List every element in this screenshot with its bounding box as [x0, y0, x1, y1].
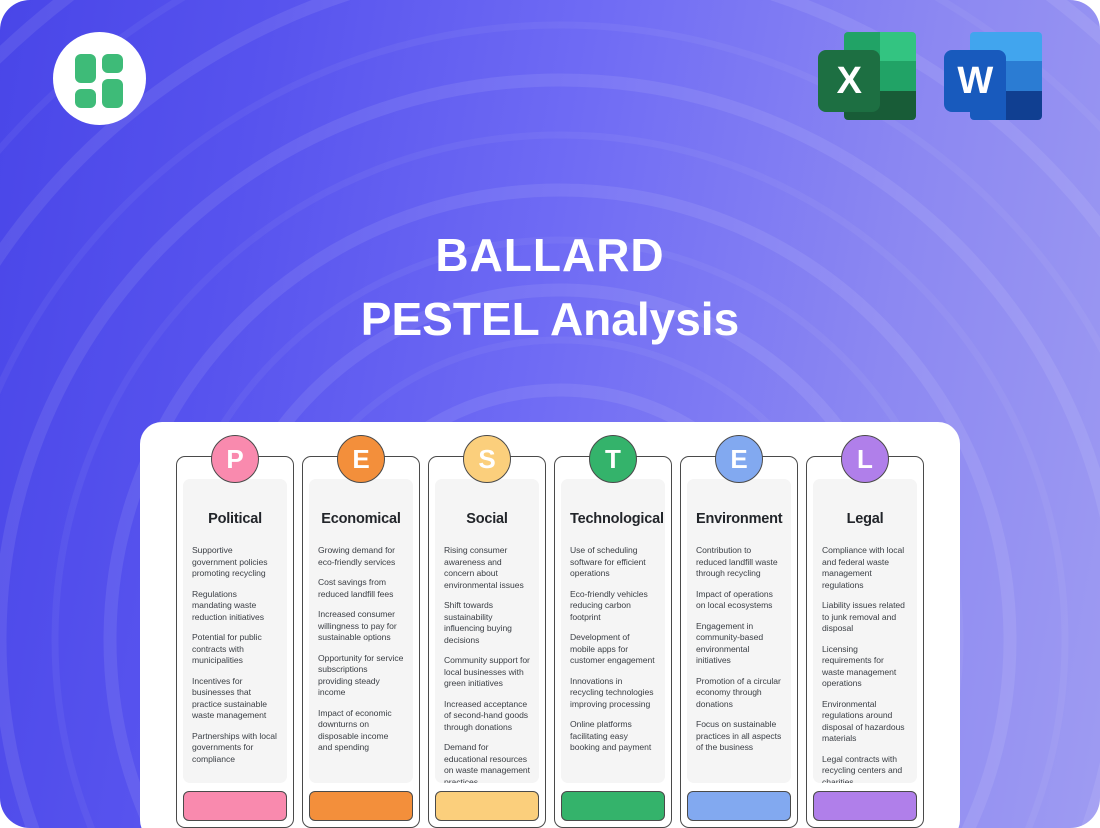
pestel-point: Licensing requirements for waste managem… — [822, 644, 908, 690]
pestel-point: Compliance with local and federal waste … — [822, 545, 908, 591]
pestel-point: Shift towards sustainability influencing… — [444, 600, 530, 646]
pestel-point: Engagement in community-based environmen… — [696, 621, 782, 667]
pestel-point: Cost savings from reduced landfill fees — [318, 577, 404, 600]
pestel-badge-political: P — [211, 435, 259, 483]
pestel-badge-legal: L — [841, 435, 889, 483]
pestel-point: Eco-friendly vehicles reducing carbon fo… — [570, 589, 656, 624]
pestel-point: Potential for public contracts with muni… — [192, 632, 278, 667]
pestel-color-bar — [183, 791, 287, 821]
pestel-point: Use of scheduling software for efficient… — [570, 545, 656, 580]
page-title: BALLARD PESTEL Analysis — [0, 225, 1100, 353]
pestel-point: Promotion of a circular economy through … — [696, 676, 782, 711]
pestel-point: Increased acceptance of second-hand good… — [444, 699, 530, 734]
pestel-point: Partnerships with local governments for … — [192, 731, 278, 766]
pestel-panel: TechnologicalUse of scheduling software … — [561, 479, 665, 783]
pestel-color-bar — [309, 791, 413, 821]
pestel-point: Liability issues related to junk removal… — [822, 600, 908, 635]
pestel-panel: SocialRising consumer awareness and conc… — [435, 479, 539, 783]
pestel-color-bar — [687, 791, 791, 821]
pestel-point: Development of mobile apps for customer … — [570, 632, 656, 667]
title-subject: PESTEL Analysis — [0, 285, 1100, 353]
pestel-column-social[interactable]: SSocialRising consumer awareness and con… — [428, 456, 546, 828]
excel-icon[interactable]: X — [818, 32, 916, 120]
pestel-point: Online platforms facilitating easy booki… — [570, 719, 656, 754]
pestel-point: Impact of operations on local ecosystems — [696, 589, 782, 612]
pestel-color-bar — [561, 791, 665, 821]
pestel-point-list: Supportive government policies promoting… — [192, 545, 278, 765]
pestel-point: Innovations in recycling technologies im… — [570, 676, 656, 711]
pestel-point: Demand for educational resources on wast… — [444, 742, 530, 783]
pestel-column-political[interactable]: PPoliticalSupportive government policies… — [176, 456, 294, 828]
title-company: BALLARD — [0, 225, 1100, 285]
pestel-column-title: Political — [192, 511, 278, 527]
logo-tile-1 — [75, 54, 96, 83]
pestel-point: Focus on sustainable practices in all as… — [696, 719, 782, 754]
pestel-column-legal[interactable]: LLegalCompliance with local and federal … — [806, 456, 924, 828]
pestel-point-list: Use of scheduling software for efficient… — [570, 545, 656, 754]
pestel-column-title: Legal — [822, 511, 908, 527]
pestel-panel: EconomicalGrowing demand for eco-friendl… — [309, 479, 413, 783]
logo-tile-3 — [75, 89, 96, 108]
pestel-point-list: Growing demand for eco-friendly services… — [318, 545, 404, 754]
excel-letter-badge: X — [818, 50, 880, 112]
pestel-color-bar — [435, 791, 539, 821]
pestel-panel: EnvironmentContribution to reduced landf… — [687, 479, 791, 783]
pestel-column-economical[interactable]: EEconomicalGrowing demand for eco-friend… — [302, 456, 420, 828]
pestel-badge-economical: E — [337, 435, 385, 483]
pestel-column-environment[interactable]: EEnvironmentContribution to reduced land… — [680, 456, 798, 828]
pestel-point: Environmental regulations around disposa… — [822, 699, 908, 745]
logo-tile-4 — [102, 79, 123, 108]
pestel-point: Growing demand for eco-friendly services — [318, 545, 404, 568]
pestel-column-title: Economical — [318, 511, 404, 527]
pestel-point: Impact of economic downturns on disposab… — [318, 708, 404, 754]
pestel-point-list: Compliance with local and federal waste … — [822, 545, 908, 783]
pestel-point-list: Contribution to reduced landfill waste t… — [696, 545, 782, 754]
pestel-point: Community support for local businesses w… — [444, 655, 530, 690]
pestel-point: Legal contracts with recycling centers a… — [822, 754, 908, 784]
pestel-point: Incentives for businesses that practice … — [192, 676, 278, 722]
pestel-badge-environment: E — [715, 435, 763, 483]
pestel-badge-technological: T — [589, 435, 637, 483]
pestel-point: Supportive government policies promoting… — [192, 545, 278, 580]
word-icon[interactable]: W — [944, 32, 1042, 120]
slide-canvas: X W BALLARD PESTEL Analys — [0, 0, 1100, 828]
pestel-panel: PoliticalSupportive government policies … — [183, 479, 287, 783]
pestel-point-list: Rising consumer awareness and concern ab… — [444, 545, 530, 783]
export-icons: X W — [818, 32, 1042, 120]
pestel-point: Contribution to reduced landfill waste t… — [696, 545, 782, 580]
app-logo — [53, 32, 146, 125]
pestel-point: Regulations mandating waste reduction in… — [192, 589, 278, 624]
pestel-column-title: Social — [444, 511, 530, 527]
dashboard-grid-icon — [75, 54, 125, 104]
pestel-point: Rising consumer awareness and concern ab… — [444, 545, 530, 591]
pestel-columns: PPoliticalSupportive government policies… — [140, 456, 960, 828]
logo-tile-2 — [102, 54, 123, 73]
pestel-column-technological[interactable]: TTechnologicalUse of scheduling software… — [554, 456, 672, 828]
pestel-panel: LegalCompliance with local and federal w… — [813, 479, 917, 783]
word-letter-badge: W — [944, 50, 1006, 112]
pestel-column-title: Technological — [570, 511, 656, 527]
pestel-color-bar — [813, 791, 917, 821]
pestel-point: Increased consumer willingness to pay fo… — [318, 609, 404, 644]
pestel-point: Opportunity for service subscriptions pr… — [318, 653, 404, 699]
pestel-column-title: Environment — [696, 511, 782, 527]
pestel-badge-social: S — [463, 435, 511, 483]
